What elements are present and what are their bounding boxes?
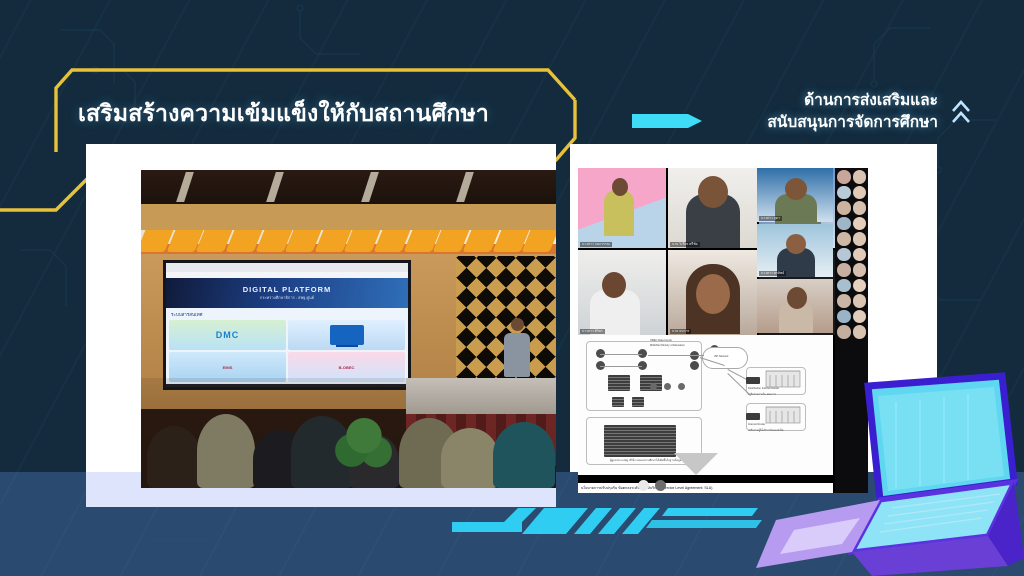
laptop-thumbnail-icon — [330, 325, 364, 345]
participant-tile: นางสาว สุดา — [757, 168, 833, 222]
speaker-person — [504, 318, 530, 384]
ceiling — [141, 170, 556, 204]
avatar[interactable] — [853, 294, 867, 308]
participant-tile: นางสาว ศิริพร — [578, 250, 666, 335]
avatar[interactable] — [837, 310, 851, 324]
isometric-laptop-icon — [756, 370, 1024, 576]
slide-section-label: ระบบสารสนเทศ — [171, 311, 405, 318]
avatar[interactable] — [853, 263, 867, 277]
garland-decoration — [141, 230, 556, 252]
speaker-body — [504, 333, 530, 377]
avatar[interactable] — [837, 263, 851, 277]
speed-stripes-icon — [452, 498, 782, 540]
avatar[interactable] — [837, 217, 851, 231]
avatar[interactable] — [837, 294, 851, 308]
double-chevron-up-icon — [950, 95, 972, 129]
avatar[interactable] — [837, 201, 851, 215]
section-header-line2: สนับสนุนการจัดการศึกษา — [767, 112, 938, 134]
avatar[interactable] — [837, 170, 851, 184]
slide-card: DMC — [169, 320, 286, 350]
avatar[interactable] — [837, 325, 851, 339]
avatar[interactable] — [853, 217, 867, 231]
avatar[interactable] — [837, 186, 851, 200]
avatar[interactable] — [853, 232, 867, 246]
page-title: เสริมสร้างความเข้มแข็งให้กับสถานศึกษา — [78, 96, 489, 132]
diagram-label: OBEC Data Center — [650, 339, 672, 342]
cyan-arrow-tag-icon — [632, 111, 704, 131]
slide-card-grid: DMC EMIS B-OBEC — [169, 320, 405, 382]
slide-card-title: EMIS — [223, 365, 233, 370]
avatar[interactable] — [853, 248, 867, 262]
decorative-plant — [333, 406, 395, 480]
wall-upper — [141, 204, 556, 230]
avatar[interactable] — [837, 232, 851, 246]
diagram-label: ผู้ดูแลระบบ สพฐ. ที่ใช้งานของสถานศึกษาได… — [610, 459, 681, 463]
participant-tile — [757, 279, 833, 333]
section-header-text: ด้านการส่งเสริมและ สนับสนุนการจัดการศึกษ… — [767, 90, 938, 134]
avatar[interactable] — [853, 310, 867, 324]
more-options-icon[interactable] — [655, 480, 666, 491]
slide-hero-subtitle: กระทรวงศึกษาธิการ : สพฐ.ศูนย์ — [260, 294, 314, 301]
meeting-toolbar[interactable] — [638, 480, 666, 491]
speaker-head — [511, 318, 524, 331]
participants-icon[interactable] — [638, 480, 649, 491]
avatar[interactable] — [837, 279, 851, 293]
audience-area — [141, 378, 556, 488]
participant-tile: นาย ธนากร — [668, 250, 757, 335]
diagram-label: ISP Network — [714, 355, 728, 358]
section-header: ด้านการส่งเสริมและ สนับสนุนการจัดการศึกษ… — [767, 90, 972, 134]
slide-canvas: เสริมสร้างความเข้มแข็งให้กับสถานศึกษา ด้… — [0, 0, 1024, 576]
browser-tab-bar — [166, 263, 408, 272]
conference-room-photo: DIGITAL PLATFORM กระทรวงศึกษาธิการ : สพฐ… — [141, 170, 556, 488]
slide-hero-banner: DIGITAL PLATFORM กระทรวงศึกษาธิการ : สพฐ… — [166, 278, 408, 308]
participant-name: นาย วิเชียร ศรีชัย — [670, 242, 700, 247]
participant-tile: นางสาว พรทิพย์ — [757, 224, 833, 278]
slide-card — [288, 320, 405, 350]
presentation-screen: DIGITAL PLATFORM กระทรวงศึกษาธิการ : สพฐ… — [163, 260, 411, 390]
participant-name: นางสาว พรทิพย์ — [759, 271, 786, 276]
down-chevron-icon — [674, 453, 718, 475]
avatar[interactable] — [837, 248, 851, 262]
participant-name: นาย ธนากร — [670, 329, 691, 334]
slide-card-title: DMC — [216, 330, 240, 340]
participant-tile: นางสาว กนกวรรณ — [578, 168, 666, 248]
avatar[interactable] — [853, 201, 867, 215]
participant-tile: นาย วิเชียร ศรีชัย — [668, 168, 757, 248]
slide-hero-title: DIGITAL PLATFORM — [243, 285, 332, 294]
participant-name: นางสาว สุดา — [759, 216, 782, 221]
avatar[interactable] — [853, 279, 867, 293]
section-header-line1: ด้านการส่งเสริมและ — [767, 90, 938, 112]
avatar[interactable] — [853, 170, 867, 184]
avatar[interactable] — [853, 186, 867, 200]
participant-name: นางสาว ศิริพร — [580, 329, 605, 334]
slide-body: ระบบสารสนเทศ DMC EMIS B-OBEC — [166, 308, 408, 384]
participant-name: นางสาว กนกวรรณ — [580, 242, 612, 247]
diagram-label: MOENet Ministry of Education — [650, 344, 685, 347]
avatar[interactable] — [853, 325, 867, 339]
participant-column: นางสาว สุดา นางสาว พรทิพย์ — [757, 168, 833, 333]
slide-card-title: B-OBEC — [339, 365, 355, 370]
